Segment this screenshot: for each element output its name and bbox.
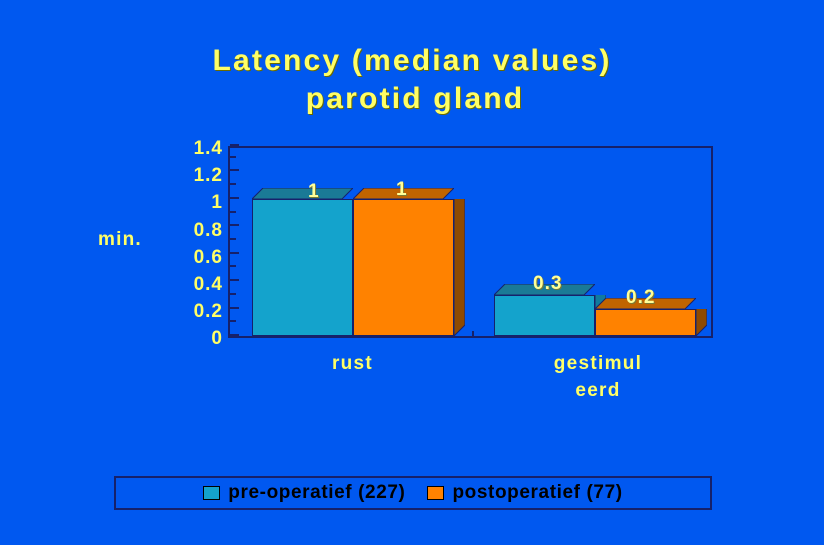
plot-area (228, 146, 713, 338)
x-category-label-line2: eerd (518, 377, 678, 404)
legend-item-postoperatief[interactable]: postoperatief (77) (427, 482, 622, 504)
y-axis-tick-labels: 1.4 1.2 1 0.8 0.6 0.4 0.2 0 (138, 140, 223, 358)
y-tick-label: 0.4 (138, 276, 223, 303)
y-tick-mark (230, 279, 239, 281)
legend-item-label: pre-operatief (227) (228, 482, 405, 504)
y-tick-label: 0 (138, 330, 223, 357)
chart-legend: pre-operatief (227) postoperatief (77) (114, 476, 712, 510)
y-tick-mark (230, 156, 236, 158)
x-tick-mark (472, 331, 474, 336)
bar-gestimuleerd-pre-operatief[interactable] (494, 295, 595, 336)
y-tick-label: 0.6 (138, 249, 223, 276)
bar-rust-pre-operatief[interactable] (252, 199, 353, 336)
y-tick-mark (230, 144, 239, 146)
y-tick-label: 1 (138, 194, 223, 221)
y-tick-mark (230, 334, 239, 336)
y-tick-mark (230, 211, 236, 213)
chart-title: Latency (median values) parotid gland (0, 42, 824, 118)
y-tick-label: 0.8 (138, 222, 223, 249)
y-tick-label: 0.2 (138, 303, 223, 330)
legend-item-label: postoperatief (77) (452, 482, 622, 504)
y-tick-mark (230, 320, 236, 322)
bar-side-face-shape (696, 309, 707, 336)
y-tick-mark (230, 224, 239, 226)
data-label-rust-post: 1 (396, 179, 408, 201)
x-category-label-gestimuleerd: gestimul eerd (518, 350, 678, 404)
y-tick-mark (230, 293, 236, 295)
bar-side-face (454, 199, 465, 336)
slide-canvas: Latency (median values) parotid gland mi… (0, 0, 824, 545)
x-category-label-line1: rust (290, 350, 415, 377)
x-category-label-rust: rust (290, 350, 415, 377)
y-tick-mark (230, 183, 236, 185)
bar-top-face-shape (252, 188, 353, 199)
data-label-rust-pre: 1 (308, 181, 320, 203)
legend-item-pre-operatief[interactable]: pre-operatief (227) (203, 482, 405, 504)
bar-front-face (252, 199, 353, 336)
bar-side-face-shape (454, 199, 465, 336)
bar-front-face (353, 199, 454, 336)
legend-swatch-icon (203, 486, 220, 500)
data-label-gestimuleerd-post: 0.2 (626, 287, 655, 309)
y-tick-mark (230, 265, 236, 267)
y-tick-label: 1.2 (138, 167, 223, 194)
y-tick-mark (230, 238, 236, 240)
y-axis-title: min. (98, 229, 142, 251)
y-tick-mark (230, 169, 239, 171)
chart-title-line1: Latency (median values) (0, 42, 824, 80)
y-tick-label: 1.4 (138, 140, 223, 167)
legend-swatch-icon (427, 486, 444, 500)
bar-front-face (595, 309, 696, 336)
y-tick-mark (230, 197, 239, 199)
chart-title-line2: parotid gland (0, 80, 824, 118)
bar-side-face (696, 309, 707, 336)
bar-top-face (252, 188, 353, 199)
y-tick-mark (230, 252, 239, 254)
y-tick-mark (230, 307, 239, 309)
bar-rust-postoperatief[interactable] (353, 199, 454, 336)
bar-gestimuleerd-postoperatief[interactable] (595, 309, 696, 336)
data-label-gestimuleerd-pre: 0.3 (533, 273, 562, 295)
bar-front-face (494, 295, 595, 336)
x-category-label-line1: gestimul (518, 350, 678, 377)
